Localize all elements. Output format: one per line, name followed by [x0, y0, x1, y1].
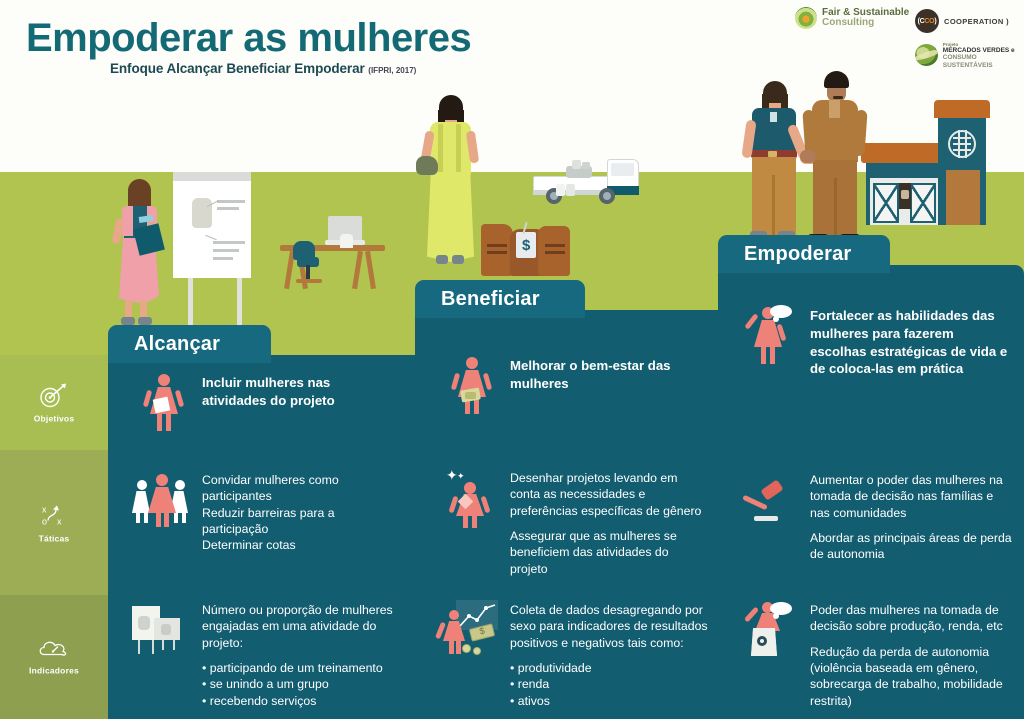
text-empoderar-objetivos: Fortalecer as habilidades das mulheres p…: [810, 305, 1010, 378]
text-alcancar-objetivos: Incluir mulheres nas atividades do proje…: [202, 372, 397, 410]
svg-text:x: x: [57, 516, 62, 526]
cell-empoderar-objetivos: Fortalecer as habilidades das mulheres p…: [740, 305, 1010, 378]
gavel-icon: [740, 470, 798, 532]
line-2: Abordar as principais áreas de perda de …: [810, 530, 1012, 563]
woman-speaking-raised-arm-icon: [740, 305, 798, 367]
text-empoderar-indicadores: Poder das mulheres na tomada de decisão …: [810, 600, 1015, 709]
woman-with-document-icon: [132, 372, 190, 434]
bullet-1: produtividade: [510, 660, 710, 676]
text-alcancar-indicadores: Número ou proporção de mulheres engajada…: [202, 600, 402, 709]
cell-beneficiar-indicadores: Coleta de dados desagregando por sexo pa…: [440, 600, 710, 709]
woman-with-sparkles-icon: ✦ ✦: [440, 468, 498, 530]
text-beneficiar-taticas: Desenhar projetos levando em conta as ne…: [510, 468, 708, 577]
svg-text:o: o: [42, 516, 47, 526]
bullet-list: produtividade renda ativos: [510, 660, 710, 709]
line-1: Convidar mulheres como participantes: [202, 472, 400, 505]
intro: Número ou proporção de mulheres engajada…: [202, 602, 402, 651]
cell-alcancar-objetivos: Incluir mulheres nas atividades do proje…: [132, 372, 397, 434]
woman-at-podium-icon: [740, 600, 798, 662]
cell-empoderar-taticas: Aumentar o poder das mulheres na tomada …: [740, 470, 1012, 563]
gauge-cloud-icon: [38, 639, 70, 661]
tab-label-empoderar: Empoderar: [744, 243, 851, 266]
group-of-people-icon: [132, 470, 190, 532]
sidebar-label-objetivos: Objetivos: [34, 413, 75, 423]
sidebar-label-indicadores: Indicadores: [29, 666, 79, 676]
woman-chart-money-icon: [440, 600, 498, 662]
line-3: Determinar cotas: [202, 537, 400, 553]
intro: Coleta de dados desagregando por sexo pa…: [510, 602, 710, 651]
text-empoderar-taticas: Aumentar o poder das mulheres na tomada …: [810, 470, 1012, 563]
text-alcancar-taticas: Convidar mulheres como participantes Red…: [202, 470, 400, 554]
sidebar-label-taticas: Táticas: [39, 533, 70, 543]
bullet-2: se unindo a um grupo: [202, 676, 402, 692]
line-1: Poder das mulheres na tomada de decisão …: [810, 602, 1015, 635]
text-beneficiar-indicadores: Coleta de dados desagregando por sexo pa…: [510, 600, 710, 709]
flipchart-icon: [132, 600, 190, 662]
cell-alcancar-taticas: Convidar mulheres como participantes Red…: [132, 470, 400, 554]
tab-label-alcancar: Alcançar: [134, 333, 220, 356]
strategy-playbook-icon: x o x: [39, 502, 69, 528]
line-1: Desenhar projetos levando em conta as ne…: [510, 470, 708, 519]
svg-text:x: x: [42, 504, 47, 514]
line-2: Reduzir barreiras para a participação: [202, 505, 400, 538]
line-2: Assegurar que as mulheres se beneficiem …: [510, 528, 708, 577]
tab-alcancar[interactable]: Alcançar: [108, 325, 271, 363]
cell-alcancar-indicadores: Número ou proporção de mulheres engajada…: [132, 600, 402, 709]
bullet-list: participando de um treinamento se unindo…: [202, 660, 402, 709]
woman-with-money-icon: [440, 355, 498, 417]
cell-empoderar-indicadores: Poder das mulheres na tomada de decisão …: [740, 600, 1015, 709]
bullet-3: recebendo serviços: [202, 693, 402, 709]
line-2: Redução da perda de autonomia (violência…: [810, 644, 1015, 709]
sidebar-item-indicadores[interactable]: Indicadores: [0, 595, 108, 719]
infographic-canvas: $: [0, 0, 1024, 719]
cell-beneficiar-taticas: ✦ ✦ Desenhar projetos levando em conta a…: [440, 468, 708, 577]
text-beneficiar-objetivos: Melhorar o bem-estar das mulheres: [510, 355, 705, 393]
tab-beneficiar[interactable]: Beneficiar: [415, 280, 585, 318]
sidebar-item-taticas[interactable]: x o x Táticas: [0, 450, 108, 595]
bullet-2: renda: [510, 676, 710, 692]
tab-label-beneficiar: Beneficiar: [441, 288, 540, 311]
bullet-1: participando de um treinamento: [202, 660, 402, 676]
tab-empoderar[interactable]: Empoderar: [718, 235, 890, 273]
bullet-3: ativos: [510, 693, 710, 709]
line-1: Aumentar o poder das mulheres na tomada …: [810, 472, 1012, 521]
cell-beneficiar-objetivos: Melhorar o bem-estar das mulheres: [440, 355, 705, 417]
